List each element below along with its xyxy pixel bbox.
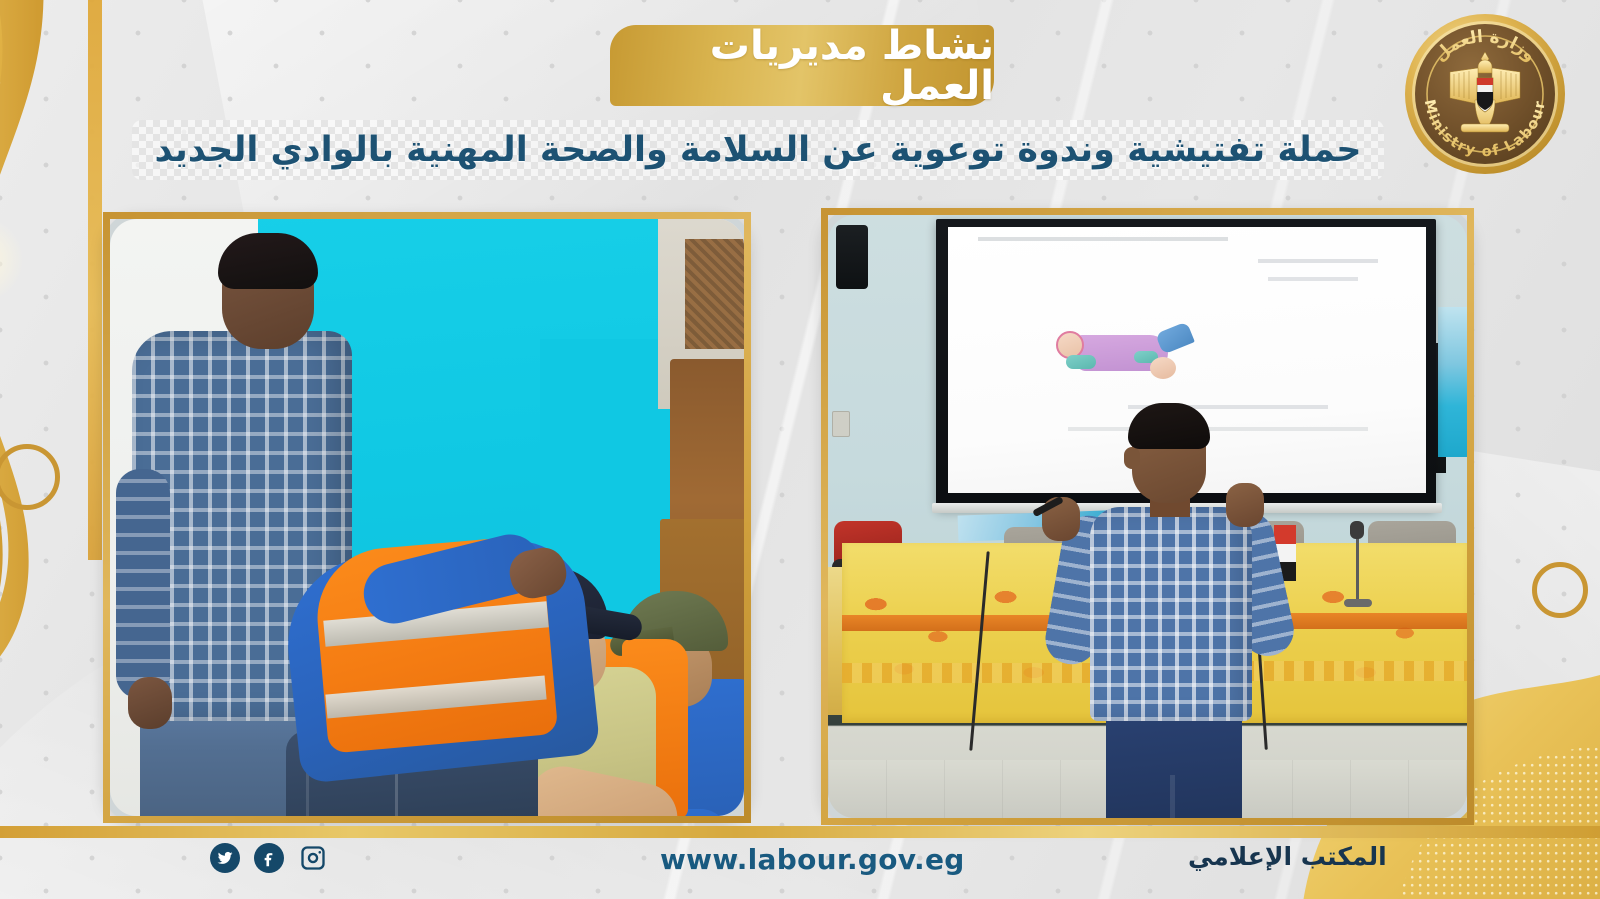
table-cloth-hem [842,663,1124,683]
social-links [210,843,328,873]
bottom-gold-divider [0,826,1600,838]
ministry-of-labour-logo: وزارة العمل Ministry of Labour [1399,8,1571,180]
presenter-hand-right [1226,483,1264,527]
wall-poster [1438,307,1467,457]
website-url[interactable]: www.labour.gov.eg [660,843,965,876]
subtitle-text: حملة تفتيشية وندوة توعوية عن السلامة وال… [154,133,1361,168]
slide-text-line [1268,277,1358,281]
slide-first-aid-figure-arm [1066,355,1096,369]
presenter-ear [1124,447,1140,469]
window-grill [685,239,744,349]
gold-ring-decoration-right [1532,562,1588,618]
first-aid-drill-photo [103,212,751,823]
microphone-head [1350,521,1364,539]
facebook-icon[interactable] [254,843,284,873]
microphone-base [1344,599,1372,607]
slide-text-line [1068,427,1368,431]
wall-speaker [836,225,868,289]
activity-banner: نشاط مديريات العمل [610,25,994,106]
first-aid-drill-photo-content [110,219,744,816]
instagram-icon[interactable] [298,843,328,873]
microphone-stand [1356,533,1359,603]
observer-arm [116,469,170,699]
wall-switch [832,411,850,437]
observer-hair [218,233,318,289]
subtitle-bar: حملة تفتيشية وندوة توعوية عن السلامة وال… [132,120,1384,180]
slide-text-line [978,237,1228,241]
slide-first-aid-figure-foot [1150,357,1176,379]
seminar-presentation-photo-content [828,215,1467,818]
presenter-checkered-shirt [1090,507,1252,721]
media-office-label: المكتب الإعلامي [1188,842,1387,871]
poster-canvas: نشاط مديريات العمل حملة تفتيشية وندوة تو… [0,0,1600,899]
seminar-presentation-photo [821,208,1474,825]
gold-accent-stripe [88,0,102,560]
twitter-icon[interactable] [210,843,240,873]
activity-banner-label: نشاط مديريات العمل [610,26,994,106]
observer-hand [128,677,172,729]
slide-text-line [1258,259,1378,263]
presenter-jeans-split [1170,775,1175,818]
